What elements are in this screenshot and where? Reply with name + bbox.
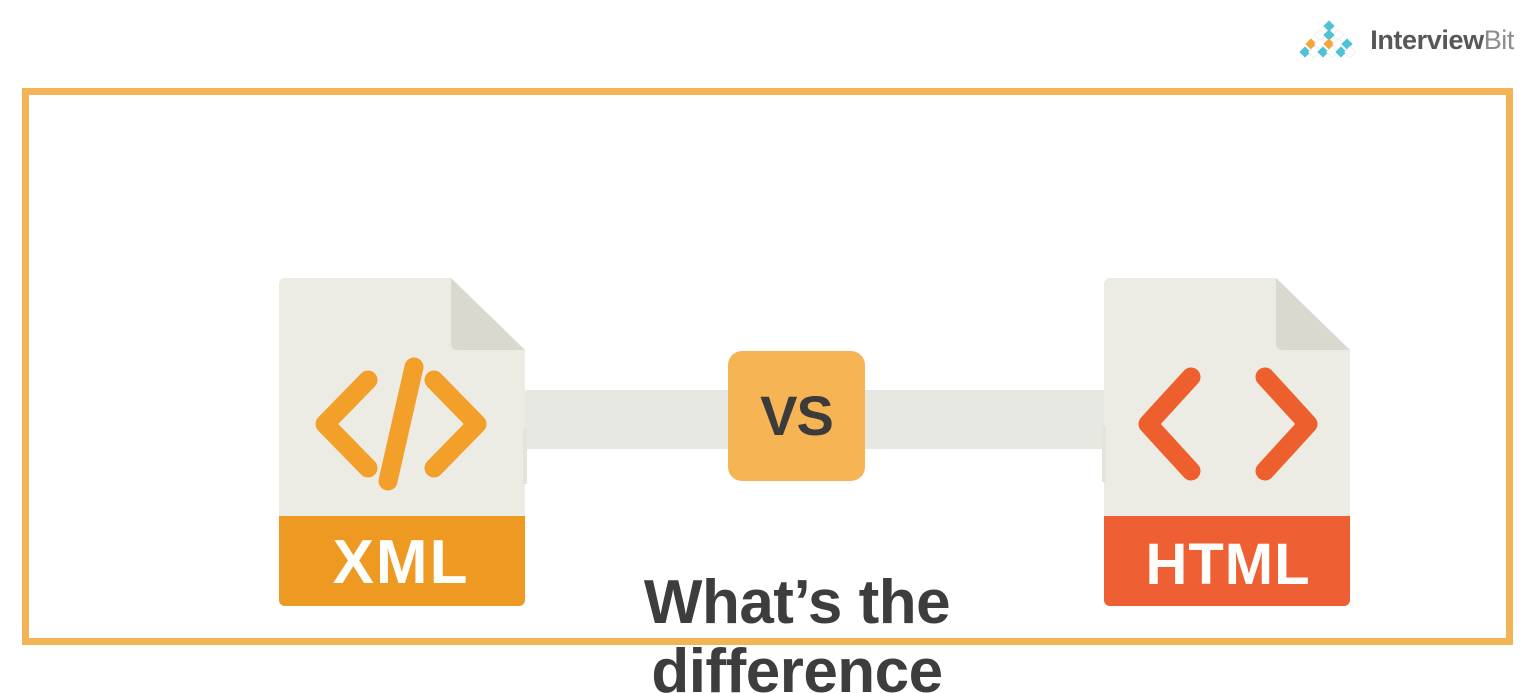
- html-file-card[interactable]: HTML: [1102, 276, 1354, 608]
- brand-name-bold: Interview: [1370, 25, 1483, 55]
- content-frame: XML VS HTML: [22, 88, 1513, 645]
- interviewbit-diamond-logo-icon: [1298, 20, 1360, 60]
- watermark-text: [470, 658, 1090, 688]
- xml-file-icon: [275, 276, 527, 608]
- vs-badge: VS: [728, 351, 865, 481]
- xml-file-card[interactable]: XML: [275, 276, 527, 608]
- html-file-icon: [1102, 276, 1354, 608]
- brand-wordmark: InterviewBit: [1370, 27, 1514, 54]
- brand-name-light: Bit: [1484, 25, 1514, 55]
- headline-line-1: What’s the: [29, 568, 1536, 637]
- vs-badge-label: VS: [760, 388, 833, 444]
- interviewbit-logo[interactable]: InterviewBit: [1298, 18, 1514, 62]
- slide-canvas: InterviewBit XML: [0, 0, 1536, 693]
